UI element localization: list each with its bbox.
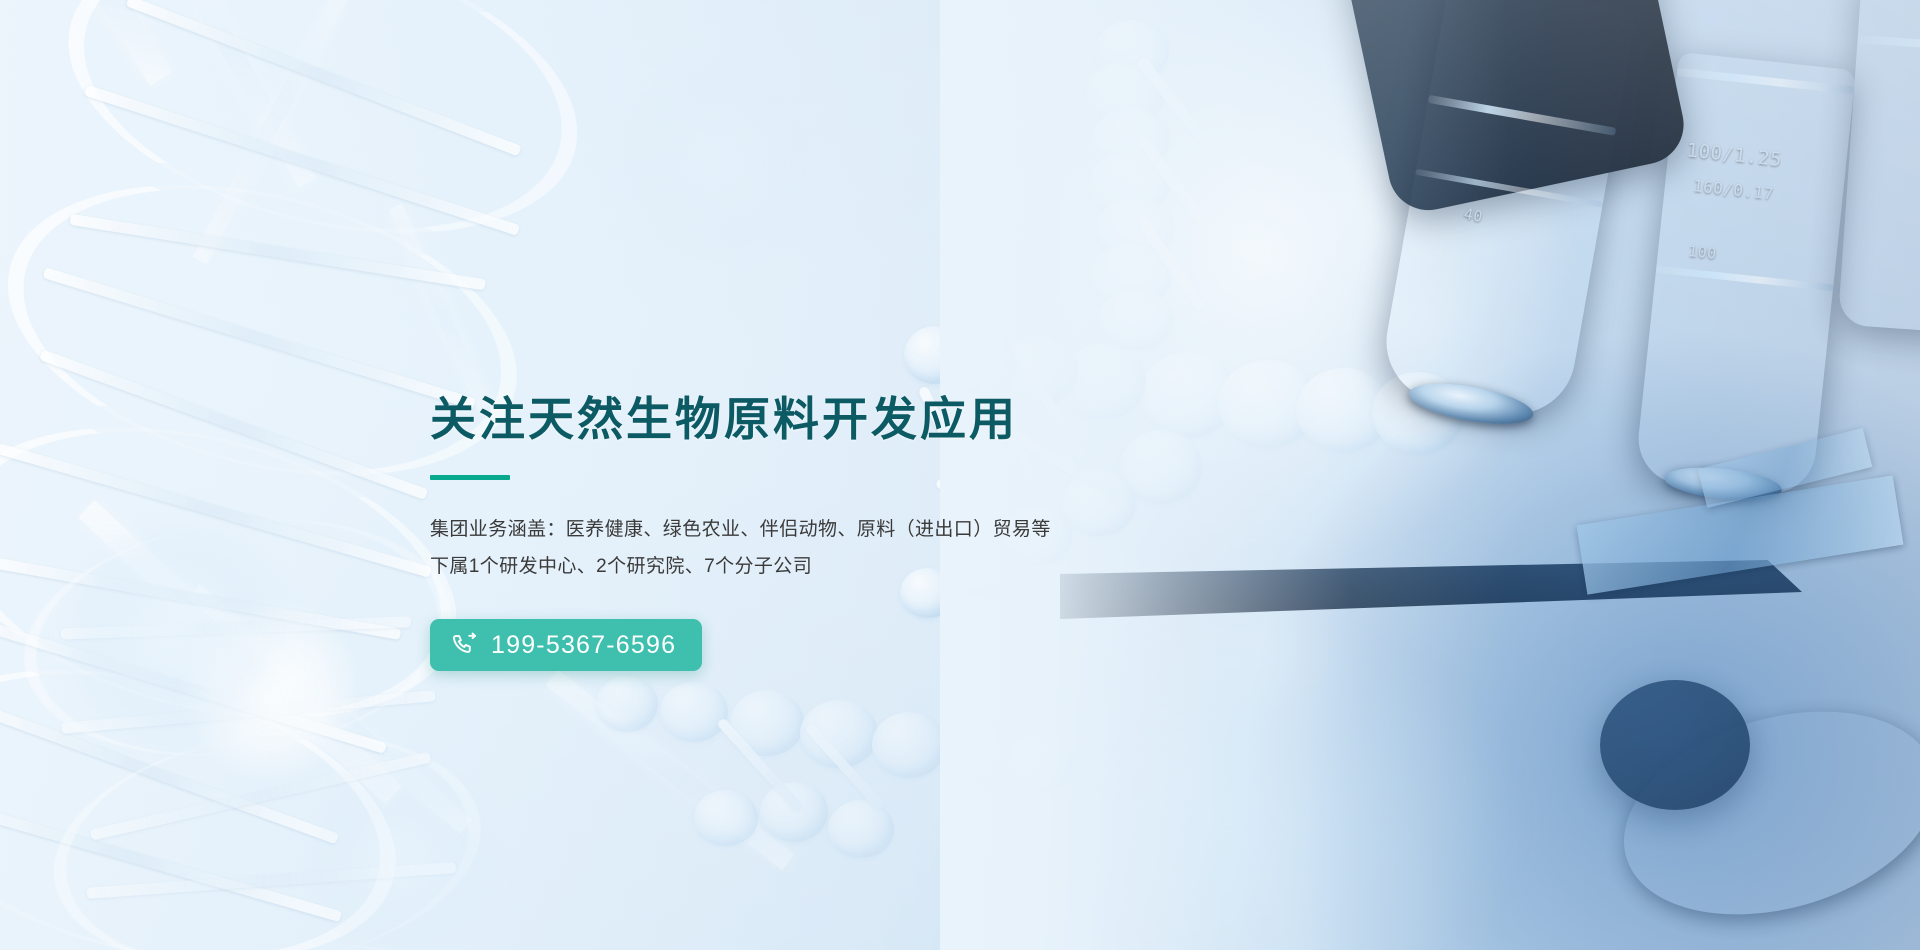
phone-number-label: 199-5367-6596 xyxy=(491,631,676,660)
phone-forward-icon xyxy=(451,632,478,659)
hero-banner: 40 100/1.25 160/0.17 100 关注天 xyxy=(0,0,1920,950)
hero-content: 关注天然生物原料开发应用 集团业务涵盖：医养健康、绿色农业、伴侣动物、原料（进出… xyxy=(430,392,1290,671)
title-divider xyxy=(430,475,510,480)
page-title: 关注天然生物原料开发应用 xyxy=(430,392,1290,446)
phone-cta-button[interactable]: 199-5367-6596 xyxy=(430,619,702,671)
hero-description: 集团业务涵盖：医养健康、绿色农业、伴侣动物、原料（进出口）贸易等 下属1个研发中… xyxy=(430,511,1290,585)
hero-description-line-2: 下属1个研发中心、2个研究院、7个分子公司 xyxy=(430,548,1290,585)
hero-description-line-1: 集团业务涵盖：医养健康、绿色农业、伴侣动物、原料（进出口）贸易等 xyxy=(430,511,1290,548)
